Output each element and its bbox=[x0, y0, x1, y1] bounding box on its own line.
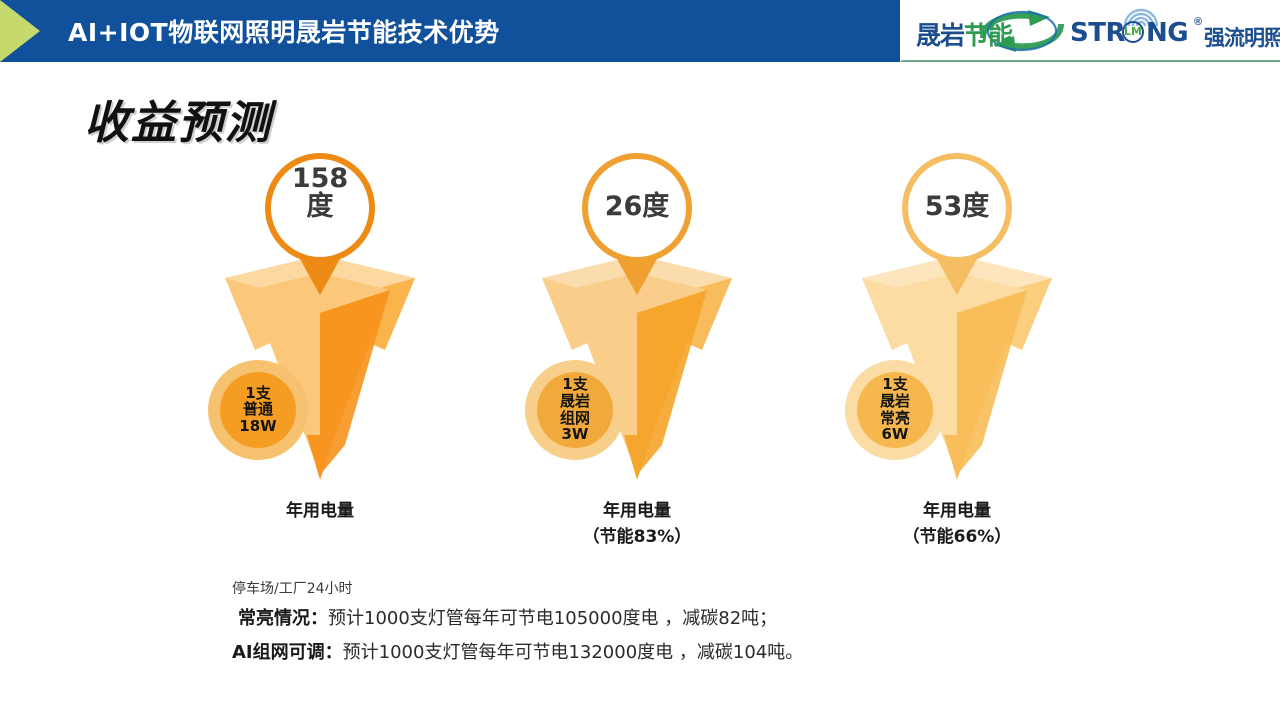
bubble-disc bbox=[537, 372, 613, 448]
bubble-disc bbox=[220, 372, 296, 448]
page-title: AI+IOT物联网照明晟岩节能技术优势 bbox=[68, 13, 500, 49]
funnel-caption: 年用电量（节能83%） bbox=[512, 498, 762, 551]
chevron-accent-icon bbox=[0, 0, 66, 62]
funnel-caption: 年用电量（节能66%） bbox=[832, 498, 1082, 551]
shengyan-jieneng-logo: 晟岩节能 bbox=[912, 8, 1072, 54]
note-lead-ai-mesh: AI组网可调： bbox=[232, 642, 343, 663]
note-line-ai-mesh: AI组网可调：预计1000支灯管每年可节电132000度电 ，减碳104吨。 bbox=[232, 644, 1132, 662]
strong-tail-text: NG bbox=[1146, 18, 1188, 48]
map-pin-icon bbox=[905, 156, 1009, 260]
funnel-group: 158度1支普通18W年用电量 bbox=[195, 145, 445, 565]
note-body-always-on: 预计1000支灯管每年可节电105000度电 ，减碳82吨； bbox=[328, 608, 777, 629]
funnel-shape bbox=[512, 145, 762, 495]
bubble-disc bbox=[857, 372, 933, 448]
funnel-group: 53度1支晟岩常亮6W年用电量（节能66%） bbox=[832, 145, 1082, 565]
funnel-caption: 年用电量 bbox=[195, 498, 445, 524]
notes-block: 停车场/工厂24小时 常亮情况：预计1000支灯管每年可节电105000度电 ，… bbox=[232, 578, 1132, 678]
note-lead-always-on: 常亮情况： bbox=[238, 608, 328, 629]
funnel-group: 26度1支晟岩组网3W年用电量（节能83%） bbox=[512, 145, 762, 565]
caption-main: 年用电量 bbox=[512, 498, 762, 524]
caption-main: 年用电量 bbox=[195, 498, 445, 524]
strong-lm-badge: LM bbox=[1122, 21, 1144, 43]
scenario-note: 停车场/工厂24小时 bbox=[232, 578, 1132, 598]
strong-head-text: STR bbox=[1070, 18, 1125, 48]
caption-sub: （节能66%） bbox=[832, 524, 1082, 550]
brand-cn-right: 强流明照明 bbox=[1204, 22, 1280, 52]
funnel-shape bbox=[195, 145, 445, 495]
brand-cn-text: 晟岩节能 bbox=[916, 16, 1012, 52]
slide-title: 收益预测 bbox=[84, 86, 272, 151]
funnel-shape bbox=[832, 145, 1082, 495]
brand-cn-blue: 晟岩 bbox=[916, 21, 964, 50]
map-pin-icon bbox=[268, 156, 372, 260]
caption-sub: （节能83%） bbox=[512, 524, 762, 550]
map-pin-icon bbox=[585, 156, 689, 260]
strong-logo: STR LM NG ® 强流明照明 bbox=[1070, 10, 1275, 54]
caption-main: 年用电量 bbox=[832, 498, 1082, 524]
note-line-always-on: 常亮情况：预计1000支灯管每年可节电105000度电 ，减碳82吨； bbox=[232, 610, 1132, 628]
note-body-ai-mesh: 预计1000支灯管每年可节电132000度电 ，减碳104吨。 bbox=[343, 642, 804, 663]
brand-logo: 晟岩节能 STR LM NG ® 强流明照明 bbox=[900, 0, 1280, 62]
registered-mark: ® bbox=[1194, 16, 1202, 28]
brand-cn-green: 节能 bbox=[964, 21, 1012, 50]
